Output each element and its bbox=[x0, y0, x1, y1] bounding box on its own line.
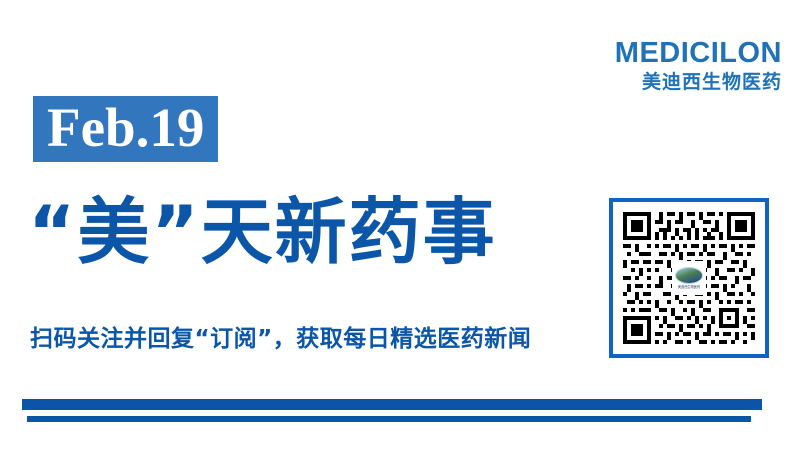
qr-center-logo: 美迪西生物医药 bbox=[672, 261, 706, 295]
poster-canvas: MEDICILON 美迪西生物医药 Feb.19 “美”天新药事 扫码关注并回复… bbox=[0, 0, 800, 468]
brand-logo: MEDICILON 美迪西生物医药 bbox=[600, 38, 782, 94]
date-badge: Feb.19 bbox=[33, 96, 218, 162]
qr-logo-caption: 美迪西生物医药 bbox=[678, 285, 700, 290]
headline-title: “美”天新药事 bbox=[28, 186, 497, 278]
qr-code-image: 美迪西生物医药 bbox=[623, 212, 755, 344]
brand-name-cn: 美迪西生物医药 bbox=[600, 70, 782, 94]
divider-thick bbox=[22, 399, 762, 410]
qr-logo-avatar-icon bbox=[675, 267, 703, 284]
qr-code-frame[interactable]: 美迪西生物医药 bbox=[609, 198, 769, 358]
brand-name: MEDICILON bbox=[600, 38, 782, 68]
subtitle-text: 扫码关注并回复“订阅”，获取每日精选医药新闻 bbox=[30, 323, 531, 355]
divider-thin bbox=[27, 416, 751, 422]
